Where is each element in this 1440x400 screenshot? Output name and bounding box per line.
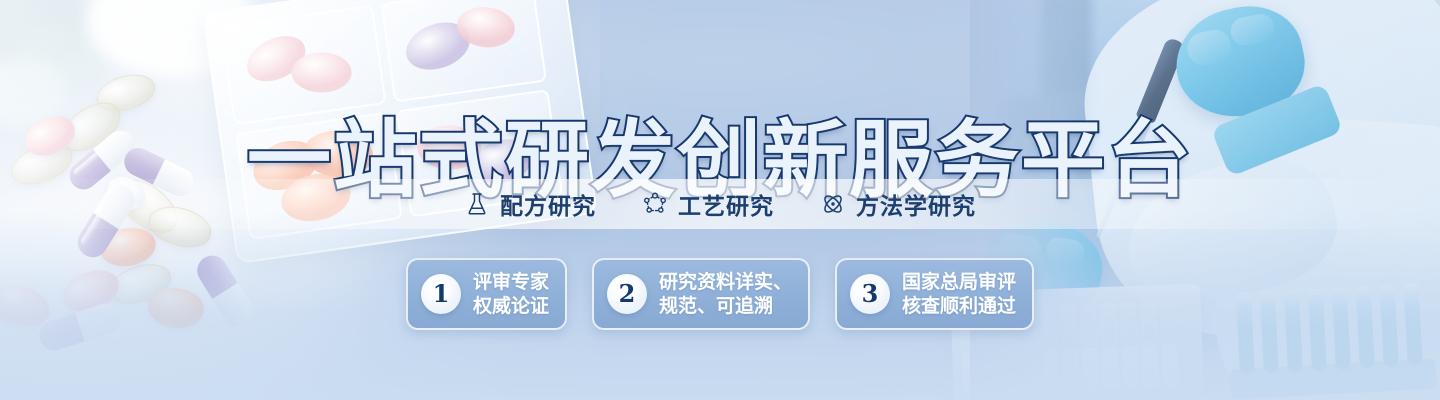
card-line-1: 研究资料详实、 (659, 270, 792, 294)
card-line-2: 权威论证 (473, 294, 549, 318)
card-number-badge: 1 (421, 274, 461, 314)
service-strip: 配方研究 工艺研究 (0, 179, 1440, 229)
promo-banner: 一站式研发创新服务平台 配方研究 (0, 0, 1440, 400)
atom-icon (820, 191, 846, 217)
service-item-process[interactable]: 工艺研究 (642, 187, 774, 221)
card-text: 国家总局审评 核查顺利通过 (902, 270, 1016, 319)
card-line-1: 国家总局审评 (902, 270, 1016, 294)
service-item-formulation[interactable]: 配方研究 (464, 187, 596, 221)
feature-card-2[interactable]: 2 研究资料详实、 规范、可追溯 (592, 258, 810, 330)
card-text: 评审专家 权威论证 (473, 270, 549, 319)
molecule-icon (642, 191, 668, 217)
banner-content: 一站式研发创新服务平台 配方研究 (0, 0, 1440, 400)
card-text: 研究资料详实、 规范、可追溯 (659, 270, 792, 319)
service-label: 配方研究 (500, 187, 596, 221)
card-line-1: 评审专家 (473, 270, 549, 294)
service-label: 工艺研究 (678, 187, 774, 221)
feature-card-1[interactable]: 1 评审专家 权威论证 (406, 258, 567, 330)
card-number-badge: 2 (607, 274, 647, 314)
flask-icon (464, 191, 490, 217)
card-line-2: 核查顺利通过 (902, 294, 1016, 318)
service-item-methodology[interactable]: 方法学研究 (820, 187, 976, 221)
card-number-badge: 3 (850, 274, 890, 314)
feature-card-3[interactable]: 3 国家总局审评 核查顺利通过 (835, 258, 1034, 330)
service-label: 方法学研究 (856, 187, 976, 221)
feature-cards: 1 评审专家 权威论证 2 研究资料详实、 规范、可追溯 3 国家总局审评 核查… (0, 258, 1440, 330)
card-line-2: 规范、可追溯 (659, 294, 792, 318)
